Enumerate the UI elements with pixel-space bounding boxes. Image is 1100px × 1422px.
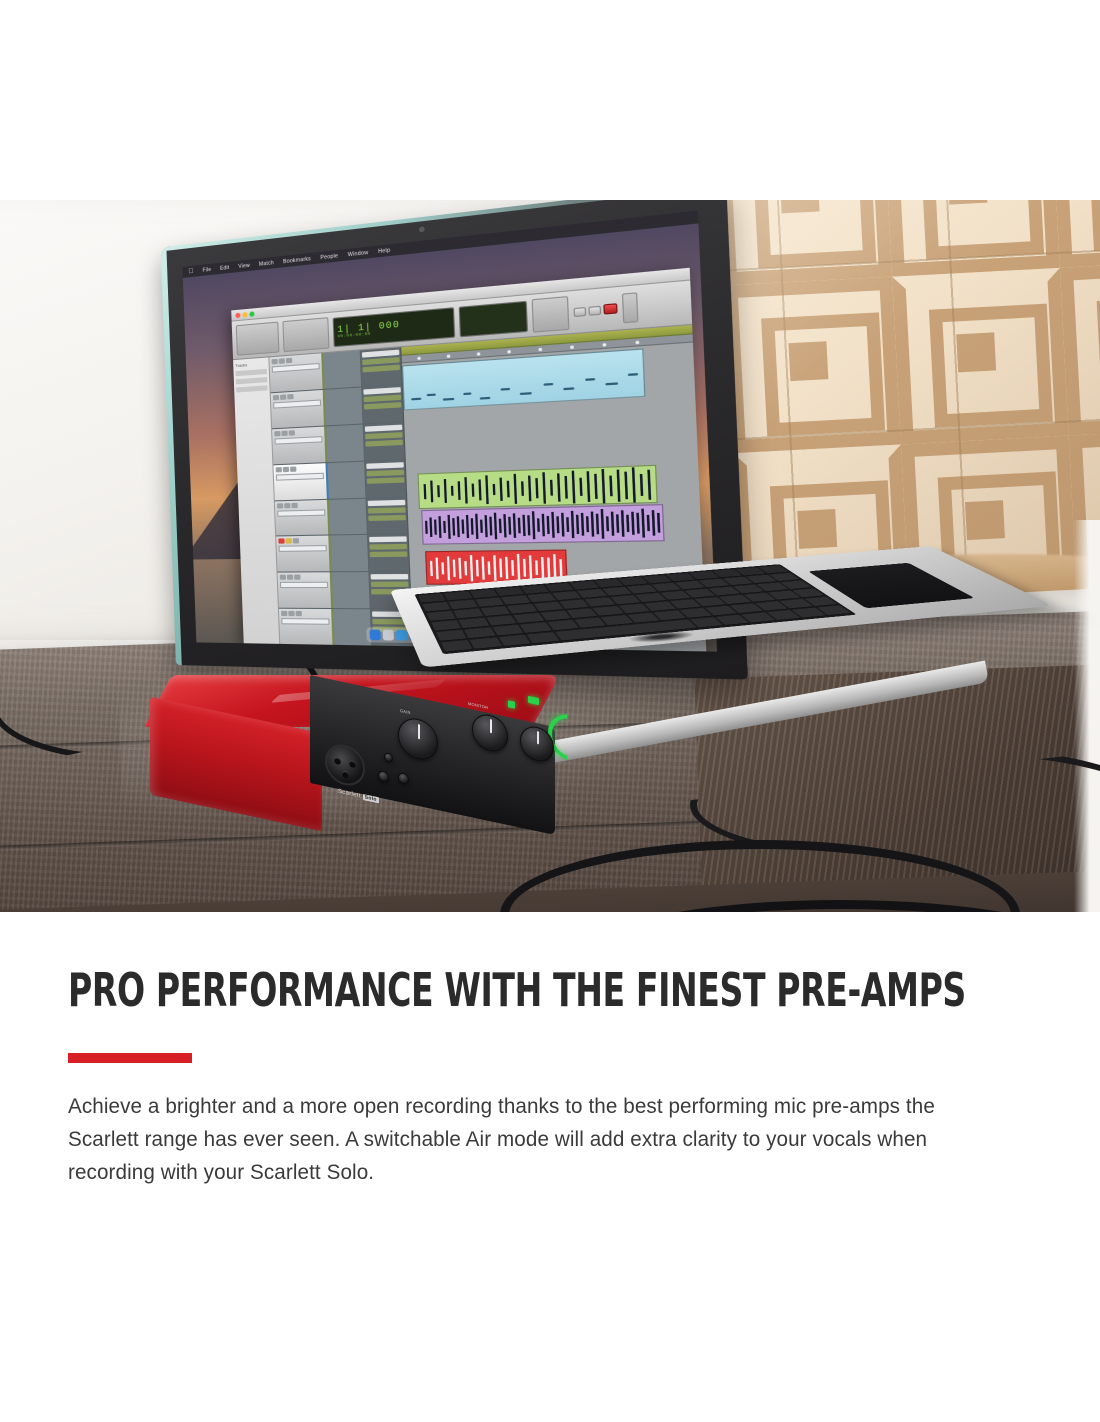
waveform <box>422 505 663 543</box>
track-row[interactable] <box>276 535 409 573</box>
menu-item-help[interactable]: Help <box>378 247 390 255</box>
menu-item-people[interactable]: People <box>320 253 338 261</box>
rewind-button[interactable] <box>573 306 586 316</box>
apple-logo-icon[interactable]:  <box>188 268 194 276</box>
photo-right-edge-fade <box>1074 520 1100 912</box>
finder-icon[interactable] <box>370 630 381 641</box>
menu-item-bookmarks[interactable]: Bookmarks <box>283 256 311 265</box>
menu-item-edit[interactable]: Edit <box>220 264 230 271</box>
toolbar-tools-block[interactable] <box>282 317 329 352</box>
menu-item-view[interactable]: View <box>238 262 250 269</box>
body-paragraph: Achieve a brighter and a more open recor… <box>68 1090 937 1189</box>
toolbar-midi-block[interactable] <box>532 295 570 332</box>
minimize-icon[interactable] <box>242 312 247 318</box>
product-lifestyle-photo:  File Edit View Match Bookmarks People … <box>0 200 1100 912</box>
tempo-meter-display[interactable] <box>459 300 528 337</box>
play-button[interactable] <box>588 305 601 315</box>
launchpad-icon[interactable] <box>383 630 394 641</box>
scarlett-solo-audio-interface: GAIN MONITOR Scarlett Solo <box>150 675 570 835</box>
close-icon[interactable] <box>235 312 240 318</box>
track-row[interactable] <box>275 497 408 537</box>
zoom-icon[interactable] <box>249 311 254 317</box>
menu-item-file[interactable]: File <box>202 266 211 273</box>
track-row[interactable] <box>273 460 406 501</box>
guitar-audio-clip[interactable] <box>421 504 664 545</box>
page-title: PRO PERFORMANCE WITH THE FINEST PRE-AMPS <box>68 967 966 1013</box>
track-row[interactable] <box>272 422 405 465</box>
webcam-icon <box>419 226 425 232</box>
vocal-audio-clip[interactable] <box>417 465 657 509</box>
product-feature-page:  File Edit View Match Bookmarks People … <box>0 0 1100 1422</box>
transport-counter[interactable]: 1| 1| 000 00:00:00:00 <box>333 307 456 347</box>
menu-item-match[interactable]: Match <box>259 260 274 268</box>
track-headers-column[interactable] <box>269 347 413 647</box>
toolbar-right-block[interactable] <box>622 292 639 323</box>
accent-rule <box>68 1053 192 1063</box>
toolbar-mode-block[interactable] <box>236 321 280 355</box>
macbook-pro-laptop:  File Edit View Match Bookmarks People … <box>160 245 920 715</box>
direct-monitor-led <box>508 700 515 708</box>
tracks-panel-label: Tracks <box>235 361 266 368</box>
record-button[interactable] <box>603 303 617 314</box>
waveform <box>419 466 657 508</box>
safari-icon[interactable] <box>396 630 408 641</box>
menu-item-window[interactable]: Window <box>348 249 369 258</box>
